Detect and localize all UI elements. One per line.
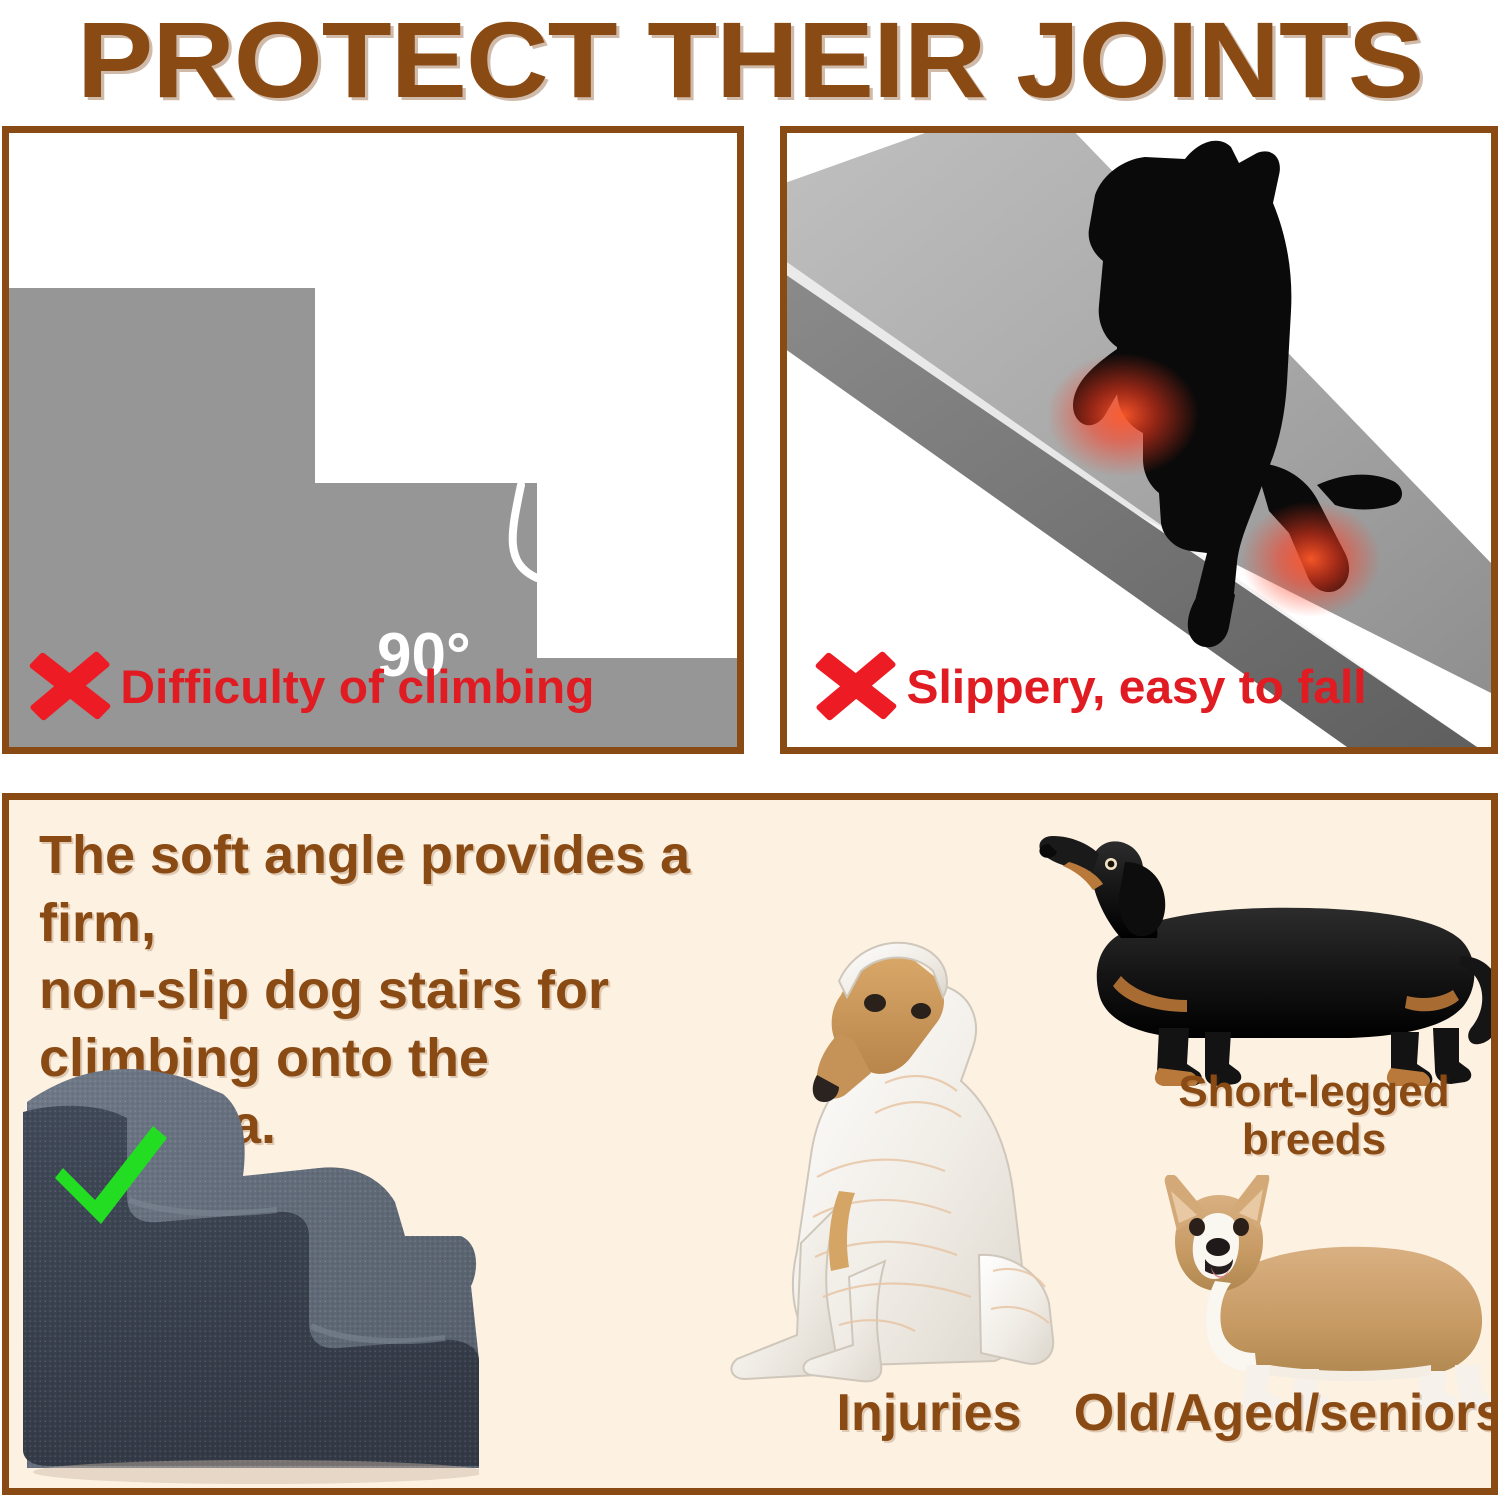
difficulty-caption: Difficulty of climbing bbox=[120, 663, 594, 710]
slippery-caption: Slippery, easy to fall bbox=[906, 663, 1366, 710]
difficulty-badge: Difficulty of climbing bbox=[31, 647, 590, 725]
green-check-icon bbox=[45, 1120, 175, 1230]
dog-label-short-legged-breeds: Short-legged breeds bbox=[1119, 1068, 1498, 1165]
dog-label-old-aged-seniors: Old/Aged/seniors bbox=[1069, 1385, 1498, 1442]
red-x-icon bbox=[31, 647, 109, 725]
panel-product-benefit: The soft angle provides a firm, non-slip… bbox=[2, 793, 1498, 1495]
dachshund-illustration bbox=[1009, 828, 1498, 1093]
page-title-bar: PROTECT THEIR JOINTS bbox=[0, 0, 1500, 120]
dog-label-injuries: Injuries bbox=[779, 1385, 1079, 1442]
pain-glow-hind bbox=[1241, 501, 1381, 617]
pain-glow-front bbox=[1047, 353, 1199, 477]
page-title: PROTECT THEIR JOINTS bbox=[77, 6, 1423, 114]
red-x-icon bbox=[817, 647, 895, 725]
slippery-badge: Slippery, easy to fall bbox=[817, 647, 1362, 725]
panel-difficulty-of-climbing: 90° Difficulty of climbing bbox=[2, 126, 744, 754]
panel-slippery-easy-to-fall: Slippery, easy to fall bbox=[780, 126, 1498, 754]
dog-photo-dachshund bbox=[1009, 828, 1498, 1093]
